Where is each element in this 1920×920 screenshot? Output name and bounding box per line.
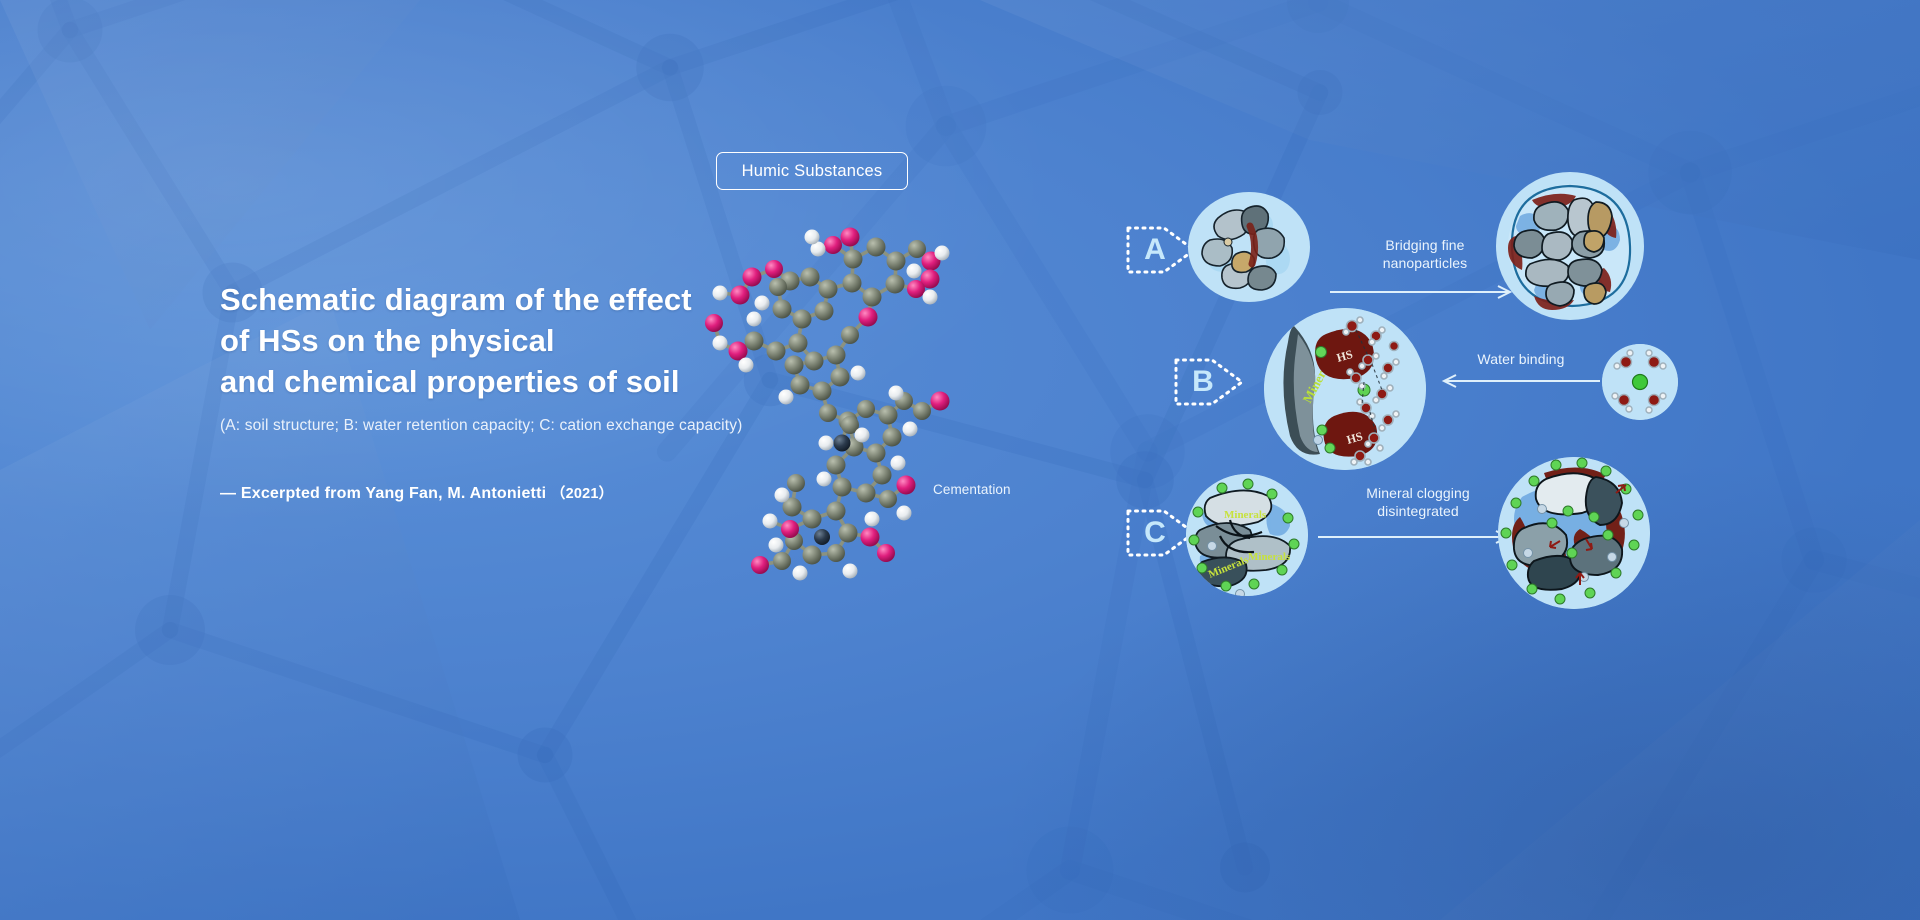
- row-b-letter: B: [1192, 367, 1214, 397]
- minerals-label-c1: Minerals: [1224, 509, 1267, 521]
- row-a-process-label: Bridging fine nanoparticles: [1330, 237, 1520, 273]
- page-title-line-1: Schematic diagram of the effect: [220, 282, 692, 317]
- cation-hydration-shell: [1602, 344, 1678, 420]
- hs-mineral-water-scene: Minerals HS HS: [1264, 308, 1426, 470]
- humic-substance-molecule-model: [690, 185, 990, 605]
- row-a-letter: A: [1144, 235, 1166, 265]
- loose-aggregate-illustration: [1188, 192, 1310, 302]
- row-a-chevron: A: [1124, 214, 1198, 286]
- attribution-year: （2021）: [551, 486, 613, 502]
- humic-substances-label-text: Humic Substances: [742, 162, 883, 181]
- page-title-line-2: of HSs on the physical: [220, 323, 555, 358]
- row-a-process-label-line1: Bridging fine: [1330, 237, 1520, 255]
- row-b-flow-arrow: [1440, 371, 1600, 391]
- cation-hydration-illustration: [1602, 344, 1678, 420]
- attribution-text: — Excerpted from Yang Fan, M. Antonietti: [220, 485, 546, 502]
- row-b-process-label: Water binding: [1446, 351, 1596, 369]
- row-c-pre-label: Cementation: [933, 482, 1011, 497]
- row-b-process-label-line1: Water binding: [1446, 351, 1596, 369]
- poster-canvas: Schematic diagram of the effect of HSs o…: [0, 0, 1920, 920]
- bridged-aggregate-illustration: [1496, 172, 1644, 320]
- row-c-flow-arrow: [1318, 527, 1518, 547]
- cemented-minerals-scene: Minerals Minerals Minerals: [1186, 474, 1308, 596]
- water-retention-illustration: Minerals HS HS: [1264, 308, 1426, 470]
- soil-aggregate-bridged: [1496, 172, 1644, 320]
- row-c-process-label: Mineral clogging disintegrated: [1318, 485, 1518, 521]
- minerals-label-c2: Minerals: [1248, 551, 1291, 563]
- soil-aggregates-loose: [1188, 192, 1310, 302]
- row-b-chevron: B: [1172, 346, 1246, 418]
- row-a-flow-arrow: [1330, 282, 1520, 302]
- row-c-process-label-line1: Mineral clogging: [1318, 485, 1518, 503]
- disintegrated-minerals-scene: [1498, 457, 1650, 609]
- row-c-letter: C: [1144, 518, 1166, 548]
- row-c-process-label-line2: disintegrated: [1318, 503, 1518, 521]
- disintegrated-minerals-illustration: [1498, 457, 1650, 609]
- page-title-line-3: and chemical properties of soil: [220, 364, 680, 399]
- row-a-process-label-line2: nanoparticles: [1330, 255, 1520, 273]
- cemented-minerals-illustration: Minerals Minerals Minerals: [1186, 474, 1308, 596]
